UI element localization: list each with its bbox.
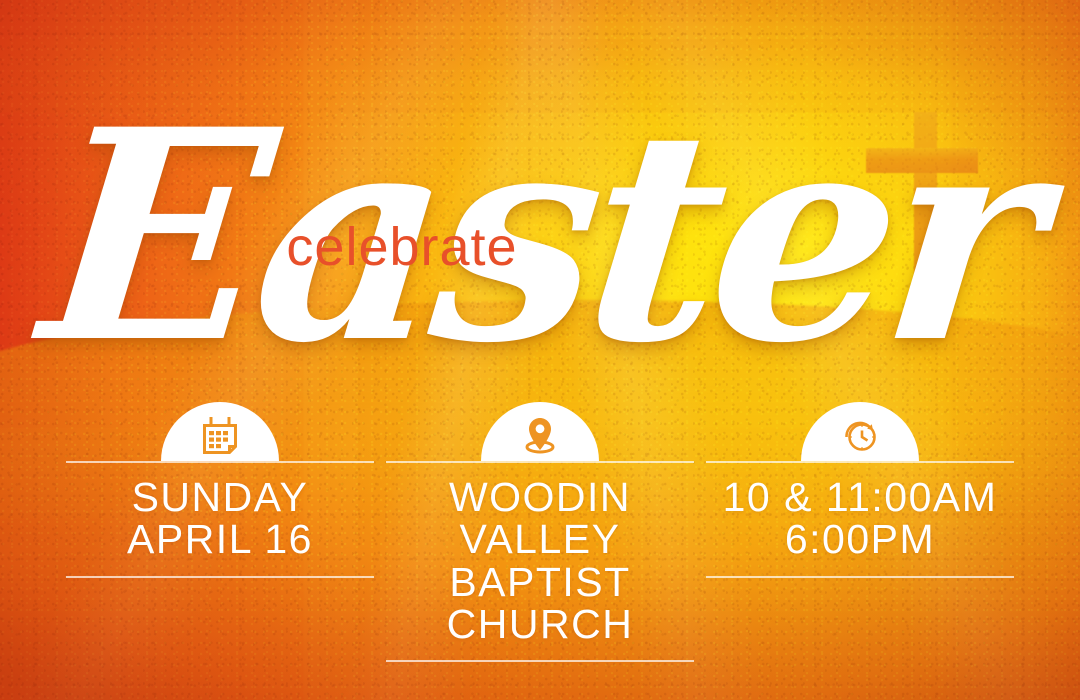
info-column-date: SUNDAY APRIL 16 xyxy=(60,402,380,577)
time-badge xyxy=(801,402,919,461)
info-bar: SUNDAY APRIL 16 WOODIN VALLEY BAPTIST CH… xyxy=(0,402,1080,662)
easter-promo-poster: Easter celebrate xyxy=(0,0,1080,700)
location-badge xyxy=(481,402,599,461)
calendar-badge xyxy=(161,402,279,461)
column-rule-bottom xyxy=(66,576,374,578)
info-date-text: SUNDAY APRIL 16 xyxy=(127,463,313,569)
calendar-icon xyxy=(198,413,242,457)
clock-history-icon xyxy=(838,413,882,457)
column-rule-bottom xyxy=(386,660,694,662)
column-rule-bottom xyxy=(706,576,1014,578)
info-time-text: 10 & 11:00AM 6:00PM xyxy=(723,463,998,569)
info-location-text: WOODIN VALLEY BAPTIST CHURCH xyxy=(386,463,694,654)
map-pin-icon xyxy=(518,413,562,457)
info-column-time: 10 & 11:00AM 6:00PM xyxy=(700,402,1020,577)
info-column-location: WOODIN VALLEY BAPTIST CHURCH xyxy=(380,402,700,662)
headline-celebrate: celebrate xyxy=(0,216,942,278)
